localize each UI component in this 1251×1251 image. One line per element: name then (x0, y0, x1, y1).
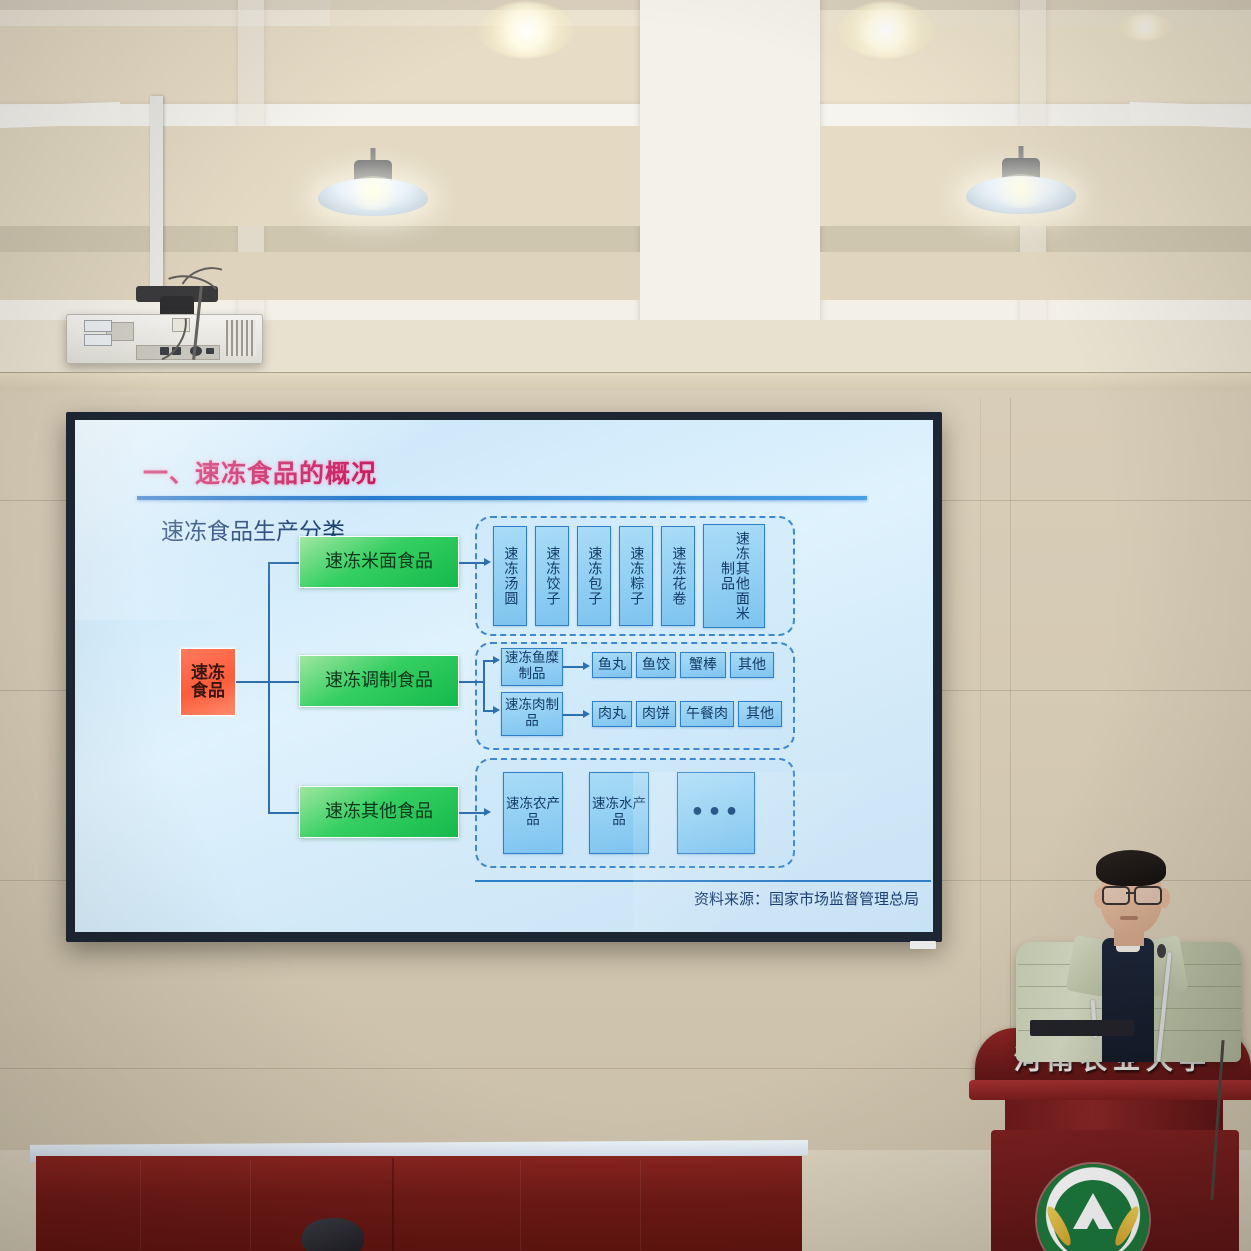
pendant-light (318, 148, 428, 218)
leaf-node: 速冻农产品 (503, 772, 563, 854)
slide-title: 一、速冻食品的概况 (143, 454, 377, 490)
leaf-label: 鱼饺 (642, 658, 670, 673)
leaf-node: 其他 (738, 701, 782, 727)
footer-divider (475, 880, 931, 882)
leaf-node: 鱼饺 (636, 652, 676, 678)
leaf-label: 肉丸 (598, 707, 626, 722)
leaf-node: 速冻汤圆 (493, 526, 527, 626)
speaker-sweater (1102, 938, 1154, 1062)
leaf-label: 速冻粽子 (629, 546, 644, 606)
presentation-slide: 一、速冻食品的概况 速冻食品生产分类 速冻 食品 速冻米面食品 (75, 420, 933, 932)
recessed-light (838, 2, 934, 58)
leaf-node: 速冻水产品 (589, 772, 649, 854)
screen-brand-tag (910, 941, 936, 949)
recessed-light (1118, 14, 1172, 40)
node-root-frozen-food: 速冻 食品 (180, 648, 236, 716)
subcategory-surimi: 速冻鱼糜制品 (501, 648, 563, 686)
leaf-label: 其他 (746, 707, 774, 722)
branch-label: 速冻其他食品 (325, 802, 433, 821)
branch-label: 速冻米面食品 (325, 552, 433, 571)
leaf-node: 肉丸 (592, 701, 632, 727)
projection-screen-frame: 一、速冻食品的概况 速冻食品生产分类 速冻 食品 速冻米面食品 (66, 412, 942, 942)
leaf-label: 速冻包子 (587, 546, 602, 606)
title-divider (137, 496, 867, 500)
projection-screen: 一、速冻食品的概况 速冻食品生产分类 速冻 食品 速冻米面食品 (75, 420, 933, 932)
leaf-node: 其他 (730, 652, 774, 678)
leaf-label: 午餐肉 (686, 707, 728, 722)
node-branch-rice-flour: 速冻米面食品 (299, 536, 459, 588)
leaf-label: 速冻水产品 (590, 797, 648, 828)
leaf-node: 速冻花卷 (661, 526, 695, 626)
leaf-node: 速冻粽子 (619, 526, 653, 626)
branch-label: 速冻调制食品 (325, 671, 433, 690)
speaker-hair (1096, 850, 1166, 886)
leaf-label: 肉饼 (642, 707, 670, 722)
leaf-label: 速冻汤圆 (503, 546, 518, 606)
leaf-label: 其他 (738, 658, 766, 673)
leaf-label: 速冻其他面米制品 (719, 525, 749, 627)
recessed-light (478, 2, 574, 58)
lectern-device (1030, 1020, 1134, 1036)
speaker-glasses-left (1102, 886, 1130, 905)
leaf-node: 速冻饺子 (535, 526, 569, 626)
leaf-label: 速冻农产品 (504, 797, 562, 828)
subcategory-label: 速冻肉制品 (502, 698, 562, 729)
node-branch-prepared: 速冻调制食品 (299, 655, 459, 707)
root-label-line1: 速冻 (191, 664, 225, 682)
leaf-label: 蟹棒 (689, 658, 717, 673)
leaf-node: 午餐肉 (680, 701, 734, 727)
leaf-label: ••• (690, 801, 741, 824)
lecture-hall-photo: 一、速冻食品的概况 速冻食品生产分类 速冻 食品 速冻米面食品 (0, 0, 1251, 1251)
leaf-label: 速冻饺子 (545, 546, 560, 606)
source-note: 资料来源：国家市场监督管理总局 (694, 888, 919, 909)
leaf-node: 鱼丸 (592, 652, 632, 678)
leaf-label: 鱼丸 (598, 658, 626, 673)
node-branch-other: 速冻其他食品 (299, 786, 459, 838)
subcategory-meat: 速冻肉制品 (501, 692, 563, 736)
subcategory-label: 速冻鱼糜制品 (502, 651, 562, 682)
speaker-glasses-right (1134, 886, 1162, 905)
audience-head (302, 1218, 364, 1251)
leaf-node-ellipsis: ••• (677, 772, 755, 854)
leaf-node: 肉饼 (636, 701, 676, 727)
pendant-light (966, 146, 1076, 216)
root-label-line2: 食品 (191, 682, 225, 700)
leaf-node: 速冻其他面米制品 (703, 524, 765, 628)
leaf-label: 速冻花卷 (671, 546, 686, 606)
leaf-node: 速冻包子 (577, 526, 611, 626)
leaf-node: 蟹棒 (680, 652, 726, 678)
